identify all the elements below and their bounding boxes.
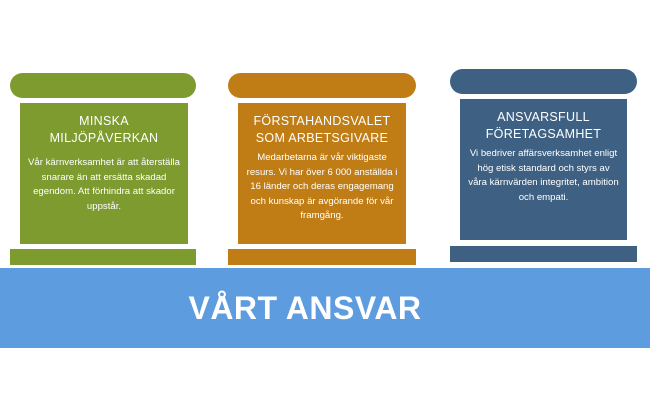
- pillar-green-body: Vår kärnverksamhet är att återställa sna…: [28, 156, 180, 214]
- pillar-green-shaft: MINSKA MILJÖPÅVERKAN Vår kärnverksamhet …: [20, 103, 188, 244]
- pillar-green-base: [10, 249, 196, 265]
- pillar-orange-body: Medarbetarna är vår viktigaste resurs. V…: [246, 151, 398, 224]
- slide-canvas: MINSKA MILJÖPÅVERKAN Vår kärnverksamhet …: [0, 0, 650, 400]
- pillar-orange-capital: [228, 73, 416, 98]
- pillar-orange-title: FÖRSTAHANDSVALET SOM ARBETSGIVARE: [254, 113, 391, 147]
- footer-banner-title: VÅRT ANSVAR: [188, 292, 421, 324]
- pillar-blue-shaft: ANSVARSFULL FÖRETAGSAMHET Vi bedriver af…: [460, 99, 627, 240]
- pillar-green-title: MINSKA MILJÖPÅVERKAN: [50, 113, 159, 147]
- pillar-orange-base: [228, 249, 416, 265]
- footer-banner: VÅRT ANSVAR: [0, 268, 650, 348]
- pillar-green-capital: [10, 73, 196, 98]
- pillar-blue-title: ANSVARSFULL FÖRETAGSAMHET: [486, 109, 601, 143]
- pillar-blue-base: [450, 246, 637, 262]
- pillar-blue-capital: [450, 69, 637, 94]
- pillar-orange-shaft: FÖRSTAHANDSVALET SOM ARBETSGIVARE Medarb…: [238, 103, 406, 244]
- pillar-blue-body: Vi bedriver affärsverksamhet enligt hög …: [468, 147, 619, 205]
